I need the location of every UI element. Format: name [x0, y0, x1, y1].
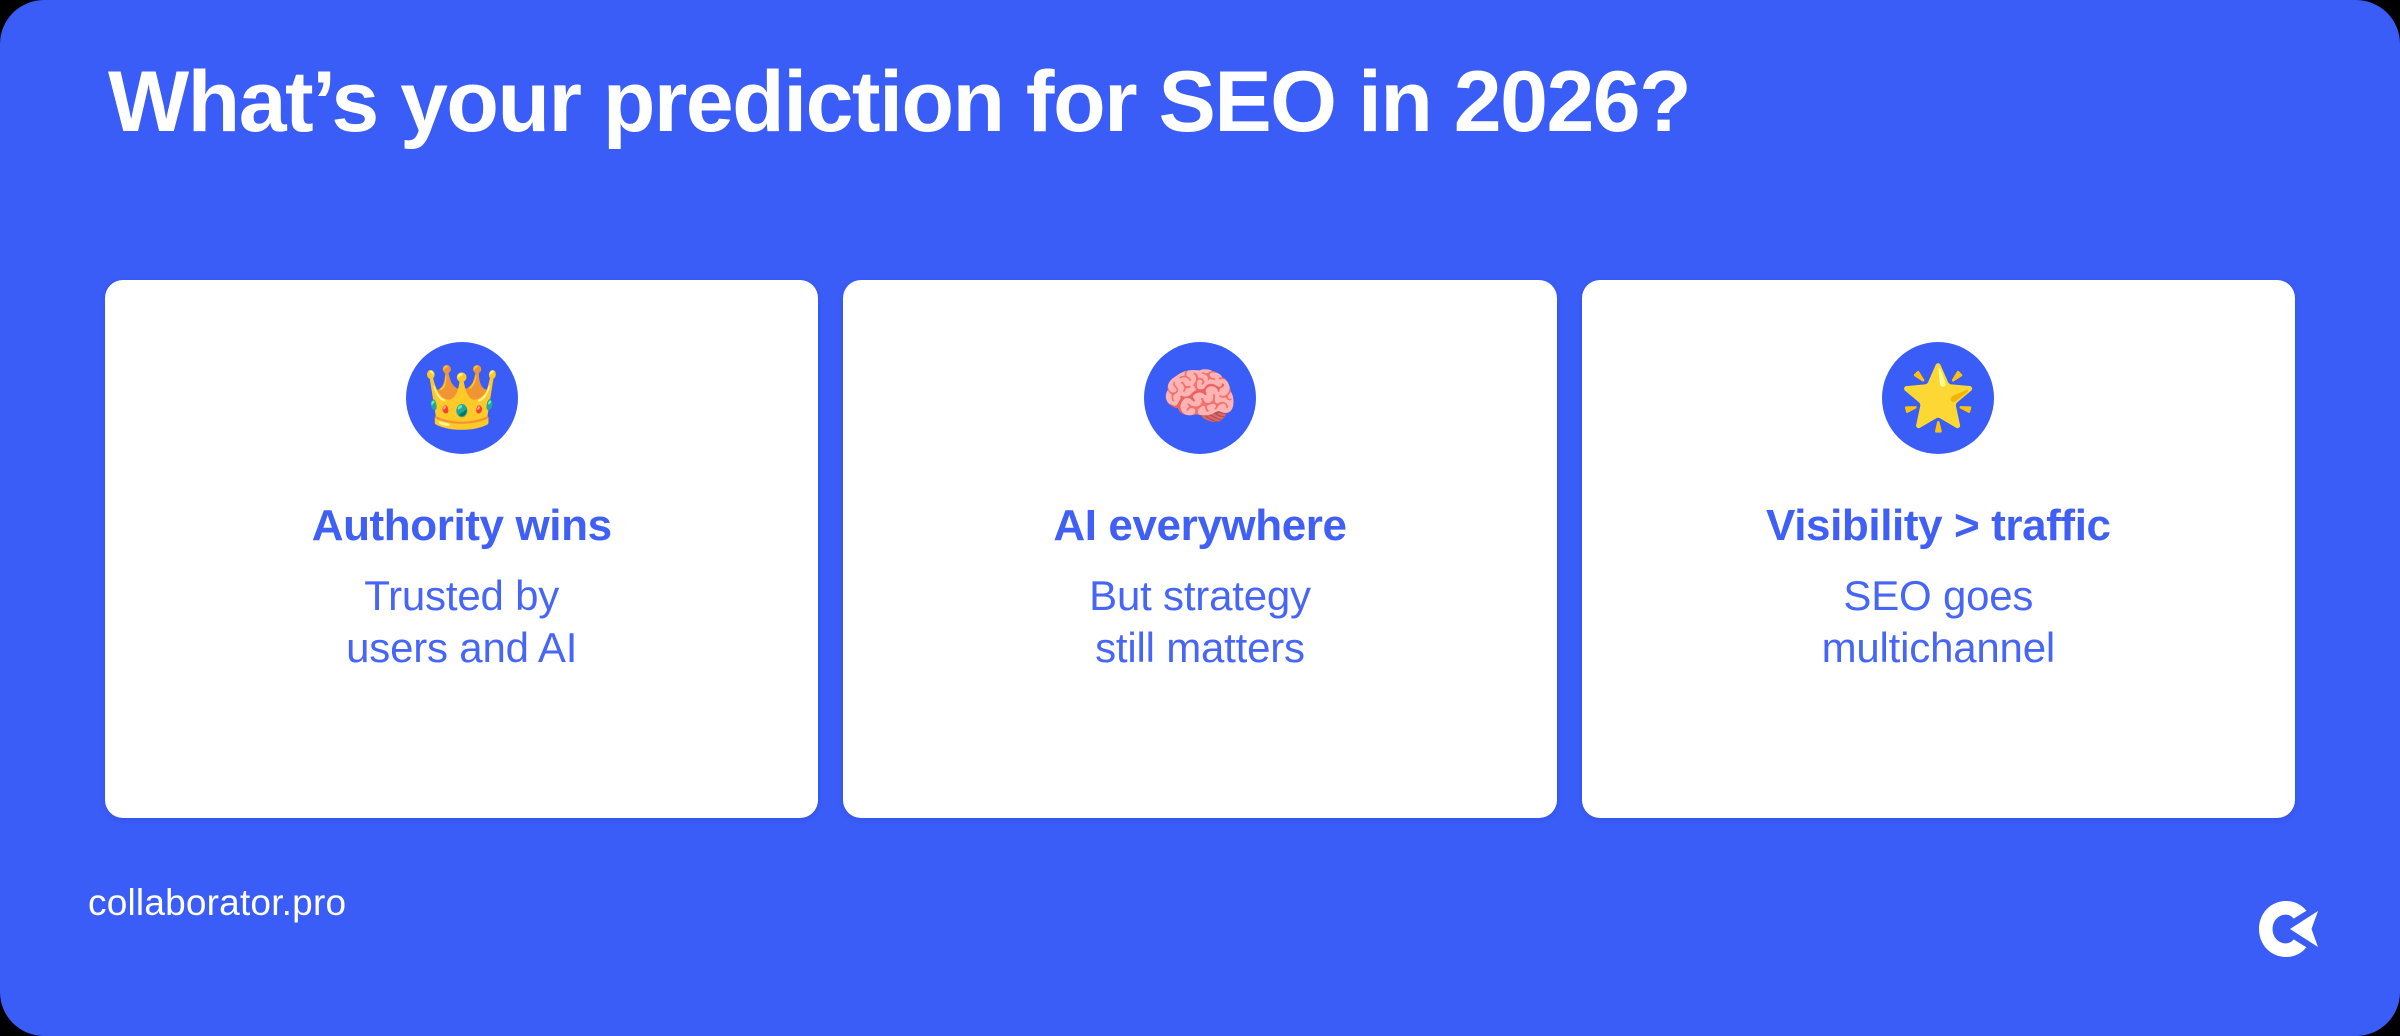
- prediction-cards-row: 👑 Authority wins Trusted by users and AI…: [105, 280, 2295, 818]
- prediction-card-visibility[interactable]: 🌟 Visibility > traffic SEO goes multicha…: [1582, 280, 2295, 818]
- page-title: What’s your prediction for SEO in 2026?: [108, 56, 2308, 149]
- prediction-card-ai[interactable]: 🧠 AI everywhere But strategy still matte…: [843, 280, 1556, 818]
- brain-icon: 🧠: [1161, 367, 1238, 429]
- card-heading: Authority wins: [312, 502, 612, 550]
- card-body: But strategy still matters: [1089, 570, 1311, 672]
- icon-badge: 🌟: [1882, 342, 1994, 454]
- footer-brand-label: collaborator.pro: [88, 882, 346, 924]
- poster-canvas: What’s your prediction for SEO in 2026? …: [0, 0, 2400, 1036]
- card-heading: AI everywhere: [1053, 502, 1346, 550]
- card-heading: Visibility > traffic: [1766, 502, 2111, 550]
- collaborator-logo-icon: [2254, 898, 2322, 960]
- icon-badge: 🧠: [1144, 342, 1256, 454]
- crown-icon: 👑: [423, 367, 500, 429]
- card-body: SEO goes multichannel: [1822, 570, 2055, 672]
- glowing-star-icon: 🌟: [1900, 367, 1977, 429]
- icon-badge: 👑: [406, 342, 518, 454]
- card-body: Trusted by users and AI: [346, 570, 577, 672]
- prediction-card-authority[interactable]: 👑 Authority wins Trusted by users and AI: [105, 280, 818, 818]
